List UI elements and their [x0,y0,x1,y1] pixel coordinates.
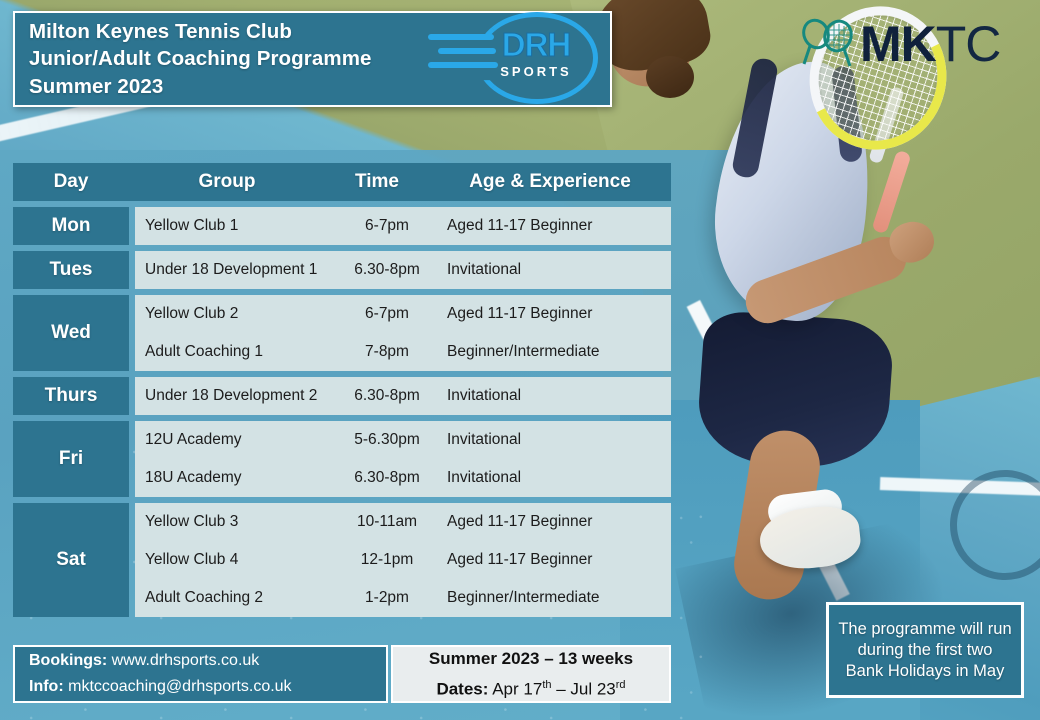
session-time: 12-1pm [335,551,439,569]
contact-panel: Bookings: www.drhsports.co.uk Info: mktc… [13,645,388,703]
session-age: Invitational [439,469,671,487]
mktc-wordmark: MKTC [860,12,1000,76]
session-age: Invitational [439,387,671,405]
session-time: 6.30-8pm [335,261,439,279]
bookings-url[interactable]: www.drhsports.co.uk [112,652,260,669]
bookings-label: Bookings: [29,652,107,669]
column-header-age: Age & Experience [429,171,671,193]
session-group: Adult Coaching 2 [135,589,335,607]
session-time: 6.30-8pm [335,469,439,487]
day-cell: Thurs [13,377,129,415]
session-time: 10-11am [335,513,439,531]
table-body: MonYellow Club 16-7pmAged 11-17 Beginner… [13,207,671,617]
mktc-logo: MKTC [798,14,1030,80]
row-sessions: Under 18 Development 26.30-8pmInvitation… [135,377,671,415]
row-sessions: Yellow Club 16-7pmAged 11-17 Beginner [135,207,671,245]
session-group: 18U Academy [135,469,335,487]
session-row: Yellow Club 412-1pmAged 11-17 Beginner [135,541,671,579]
session-age: Invitational [439,261,671,279]
session-row: Yellow Club 16-7pmAged 11-17 Beginner [135,207,671,245]
drh-wordmark: DRH [480,26,592,64]
dates-label: Dates: [436,679,488,698]
session-group: Yellow Club 3 [135,513,335,531]
session-group: Yellow Club 1 [135,217,335,235]
session-time: 7-8pm [335,343,439,361]
poster-canvas: Milton Keynes Tennis Club Junior/Adult C… [0,0,1040,720]
crossed-tennis-rackets-icon [798,18,864,74]
dates-start-ordinal: th [542,679,551,691]
bookings-line: Bookings: www.drhsports.co.uk [29,648,386,674]
session-group: Yellow Club 4 [135,551,335,569]
session-age: Invitational [439,431,671,449]
info-label: Info: [29,678,64,695]
session-age: Aged 11-17 Beginner [439,513,671,531]
dates-end-ordinal: rd [616,679,626,691]
table-header-row: Day Group Time Age & Experience [13,163,671,201]
column-header-day: Day [13,171,129,193]
table-row: ThursUnder 18 Development 26.30-8pmInvit… [13,377,671,415]
dates-separator: – Jul 23 [552,679,616,698]
session-time: 6.30-8pm [335,387,439,405]
table-row: WedYellow Club 26-7pmAged 11-17 Beginner… [13,295,671,371]
session-row: 12U Academy5-6.30pmInvitational [135,421,671,459]
row-sessions: Yellow Club 26-7pmAged 11-17 BeginnerAdu… [135,295,671,371]
day-cell: Fri [13,421,129,497]
day-cell: Wed [13,295,129,371]
page-title: Milton Keynes Tennis Club Junior/Adult C… [15,12,372,105]
table-row: TuesUnder 18 Development 16.30-8pmInvita… [13,251,671,289]
column-header-group: Group [129,171,325,193]
session-age: Beginner/Intermediate [439,589,671,607]
session-age: Aged 11-17 Beginner [439,217,671,235]
day-cell: Sat [13,503,129,617]
row-sessions: Under 18 Development 16.30-8pmInvitation… [135,251,671,289]
session-age: Aged 11-17 Beginner [439,305,671,323]
day-cell: Tues [13,251,129,289]
day-cell: Mon [13,207,129,245]
dates-start: Apr 17 [492,679,542,698]
session-group: Under 18 Development 2 [135,387,335,405]
info-email[interactable]: mktccoaching@drhsports.co.uk [68,678,291,695]
table-row: Fri12U Academy5-6.30pmInvitational18U Ac… [13,421,671,497]
column-header-time: Time [325,171,429,193]
drh-subtitle: SPORTS [480,64,592,79]
drh-sports-logo: DRH SPORTS [424,8,600,98]
row-sessions: 12U Academy5-6.30pmInvitational18U Acade… [135,421,671,497]
session-group: 12U Academy [135,431,335,449]
dates-panel: Summer 2023 – 13 weeks Dates: Apr 17th –… [391,645,671,703]
mktc-tc-text: TC [936,16,1001,72]
session-row: Adult Coaching 21-2pmBeginner/Intermedia… [135,579,671,617]
info-line: Info: mktccoaching@drhsports.co.uk [29,674,386,700]
table-row: MonYellow Club 16-7pmAged 11-17 Beginner [13,207,671,245]
session-group: Under 18 Development 1 [135,261,335,279]
session-row: Under 18 Development 16.30-8pmInvitation… [135,251,671,289]
player-hair-bun [646,56,694,98]
schedule-table: Day Group Time Age & Experience MonYello… [13,163,671,617]
session-group: Yellow Club 2 [135,305,335,323]
session-row: Under 18 Development 26.30-8pmInvitation… [135,377,671,415]
term-dates: Dates: Apr 17th – Jul 23rd [436,672,625,703]
session-time: 1-2pm [335,589,439,607]
session-row: Yellow Club 310-11amAged 11-17 Beginner [135,503,671,541]
session-row: 18U Academy6.30-8pmInvitational [135,459,671,497]
bank-holiday-note-panel: The programme will run during the first … [826,602,1024,698]
session-time: 6-7pm [335,305,439,323]
session-time: 6-7pm [335,217,439,235]
bank-holiday-note: The programme will run during the first … [829,619,1021,682]
session-group: Adult Coaching 1 [135,343,335,361]
session-age: Beginner/Intermediate [439,343,671,361]
table-row: SatYellow Club 310-11amAged 11-17 Beginn… [13,503,671,617]
session-row: Adult Coaching 17-8pmBeginner/Intermedia… [135,333,671,371]
session-age: Aged 11-17 Beginner [439,551,671,569]
term-length: Summer 2023 – 13 weeks [429,646,633,672]
row-sessions: Yellow Club 310-11amAged 11-17 BeginnerY… [135,503,671,617]
mktc-mk-text: MK [860,16,936,72]
session-time: 5-6.30pm [335,431,439,449]
session-row: Yellow Club 26-7pmAged 11-17 Beginner [135,295,671,333]
